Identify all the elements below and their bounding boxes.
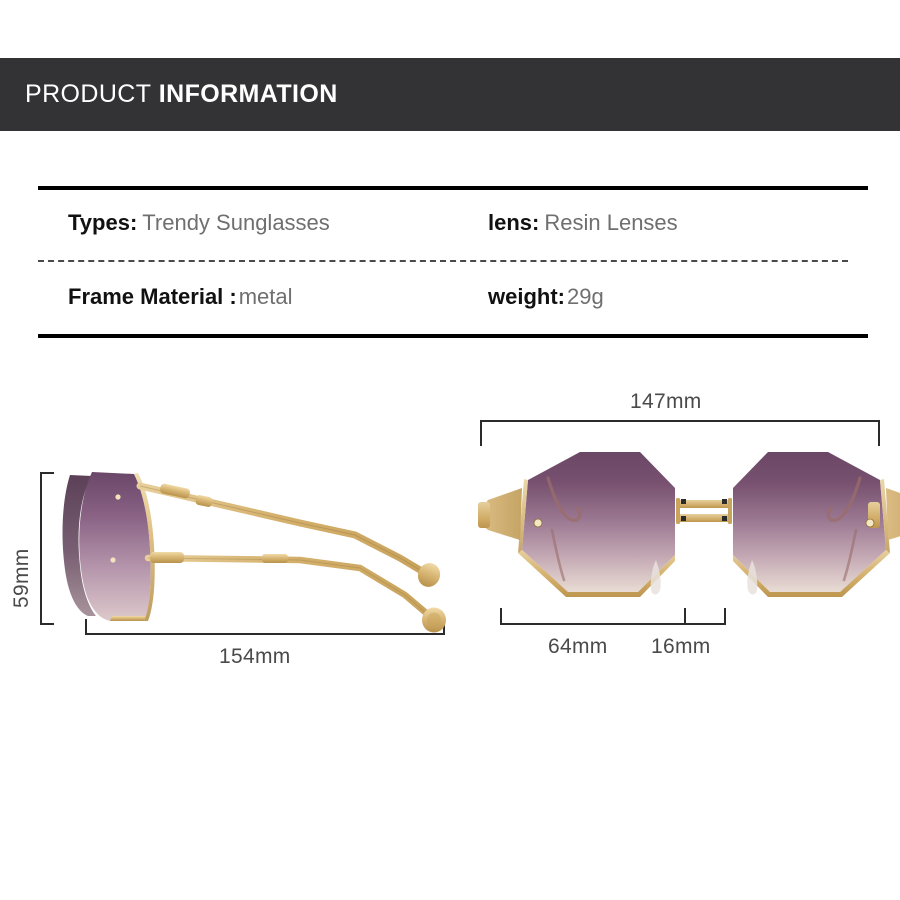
product-figures: 59mm 154mm	[0, 380, 900, 700]
table-row: Frame Material : metal weight: 29g	[38, 260, 868, 334]
spec-label-frame-material: Frame Material :	[68, 284, 237, 310]
spec-label-weight: weight:	[488, 284, 565, 310]
sunglasses-front-view: 147mm 64mm 16mm	[460, 380, 900, 700]
table-row: Types: Trendy Sunglasses lens: Resin Len…	[38, 186, 868, 260]
product-information-header: PRODUCT INFORMATION	[0, 58, 900, 131]
spec-item-types: Types: Trendy Sunglasses	[68, 210, 488, 236]
sunglasses-side-view: 59mm 154mm	[0, 380, 460, 700]
spec-label-types: Types:	[68, 210, 137, 236]
spec-value-frame-material: metal	[239, 284, 293, 310]
spec-item-weight: weight: 29g	[488, 284, 604, 310]
sunglasses-side-artwork	[0, 380, 460, 700]
spec-item-frame-material: Frame Material : metal	[68, 284, 488, 310]
spec-item-lens: lens: Resin Lenses	[488, 210, 678, 236]
page-title-light: PRODUCT	[25, 80, 151, 108]
table-bottom-rule	[38, 334, 868, 338]
spec-value-weight: 29g	[567, 284, 604, 310]
specification-table: Types: Trendy Sunglasses lens: Resin Len…	[38, 186, 868, 338]
sunglasses-front-artwork	[460, 380, 900, 700]
page-title: PRODUCT INFORMATION	[25, 80, 338, 109]
spec-value-types: Trendy Sunglasses	[142, 210, 330, 236]
page-title-bold: INFORMATION	[159, 80, 338, 108]
spec-value-lens: Resin Lenses	[544, 210, 677, 236]
spec-label-lens: lens:	[488, 210, 539, 236]
